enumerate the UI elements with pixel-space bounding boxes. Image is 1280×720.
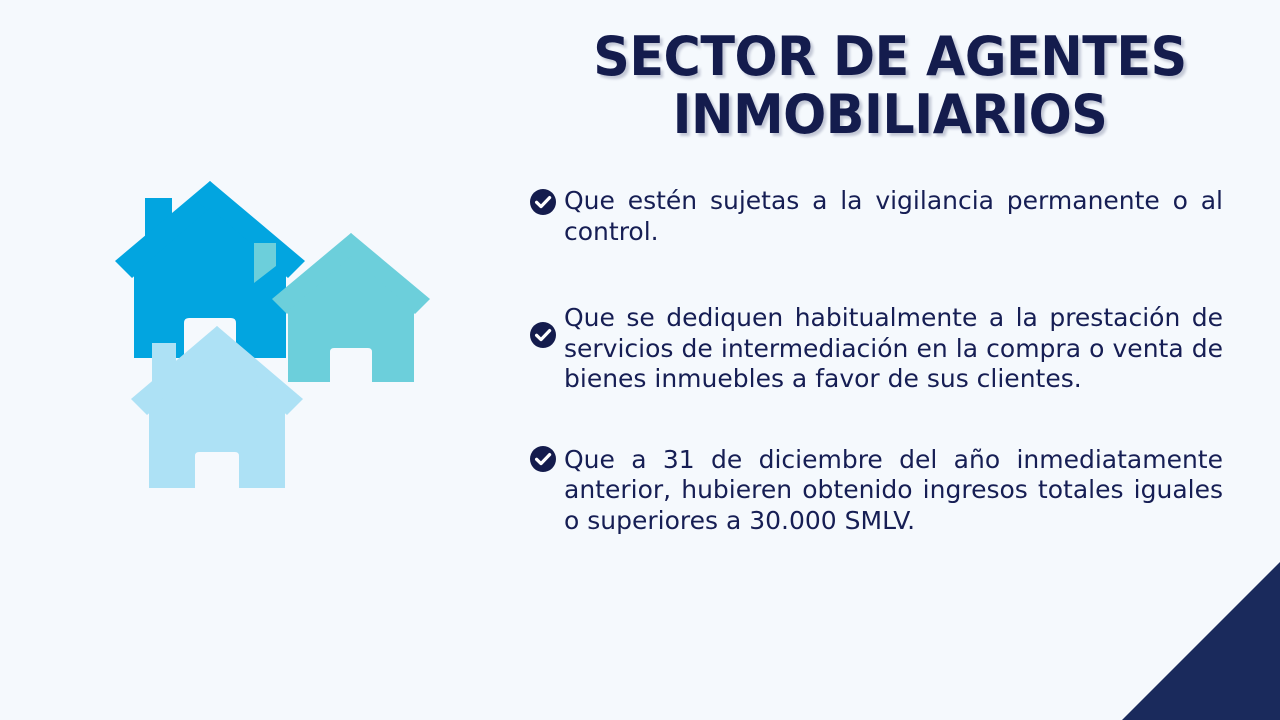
check-circle-icon bbox=[529, 321, 557, 349]
check-circle-icon bbox=[529, 188, 557, 216]
title-block: SECTOR DE AGENTES INMOBILIARIOS bbox=[540, 28, 1240, 145]
house-large-blue bbox=[115, 181, 305, 358]
list-item-label: Que se dediquen habitualmente a la prest… bbox=[564, 303, 1223, 395]
bottom-right-navy-triangle bbox=[1122, 562, 1280, 720]
list-item: Que estén sujetas a la vigilancia perman… bbox=[529, 186, 1223, 247]
list-item: Que a 31 de diciembre del año inmediatam… bbox=[529, 445, 1223, 537]
list-item-label: Que estén sujetas a la vigilancia perman… bbox=[564, 186, 1223, 247]
list-item: Que se dediquen habitualmente a la prest… bbox=[529, 303, 1223, 395]
check-circle-icon bbox=[529, 445, 557, 473]
three-houses-illustration bbox=[108, 178, 464, 568]
page-title: SECTOR DE AGENTES INMOBILIARIOS bbox=[561, 28, 1219, 145]
requirements-list: Que estén sujetas a la vigilancia perman… bbox=[529, 186, 1223, 536]
list-item-label: Que a 31 de diciembre del año inmediatam… bbox=[564, 445, 1223, 537]
slide-root: SECTOR DE AGENTES INMOBILIARIOS Que esté… bbox=[0, 0, 1280, 720]
